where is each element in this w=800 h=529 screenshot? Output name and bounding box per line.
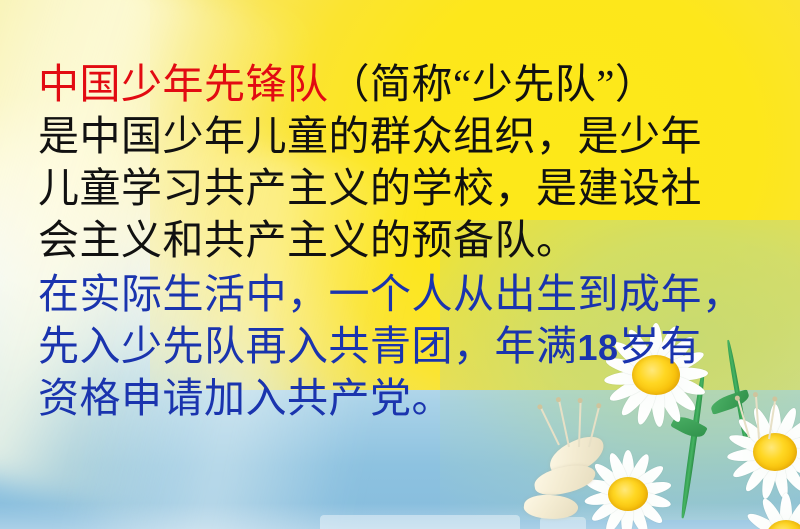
daisy-center: [753, 433, 797, 471]
daisy-flower: [726, 477, 800, 529]
text-line-1-black-segment: （简称“少先队”）: [329, 61, 657, 107]
text-line-7: 资格申请加入共产党。: [38, 378, 778, 419]
text-line-6: 先入少先队再入共青团，年满18岁有: [38, 326, 778, 367]
text-line-4: 会主义和共产主义的预备队。: [38, 220, 778, 261]
background-bottom-chip-wide: [320, 515, 520, 529]
text-line-2: 是中国少年儿童的群众组织，是少年: [38, 116, 778, 157]
text-line-1-red-segment: 中国少年先锋队: [38, 61, 329, 107]
text-line-3: 儿童学习共产主义的学校，是建设社: [38, 168, 778, 209]
slide-canvas: 中国少年先锋队（简称“少先队”） 是中国少年儿童的群众组织，是少年 儿童学习共产…: [0, 0, 800, 529]
text-line-6-number: 18: [578, 327, 619, 368]
text-line-5: 在实际生活中，一个人从出生到成年，: [38, 274, 778, 315]
slide-text-body: 中国少年先锋队（简称“少先队”） 是中国少年儿童的群众组织，是少年 儿童学习共产…: [38, 64, 778, 430]
text-line-6-prefix: 先入少先队再入共青团，年满: [38, 323, 578, 369]
daisy-center: [608, 477, 648, 511]
text-line-1: 中国少年先锋队（简称“少先队”）: [38, 64, 778, 105]
text-line-6-suffix: 岁有: [619, 323, 702, 369]
